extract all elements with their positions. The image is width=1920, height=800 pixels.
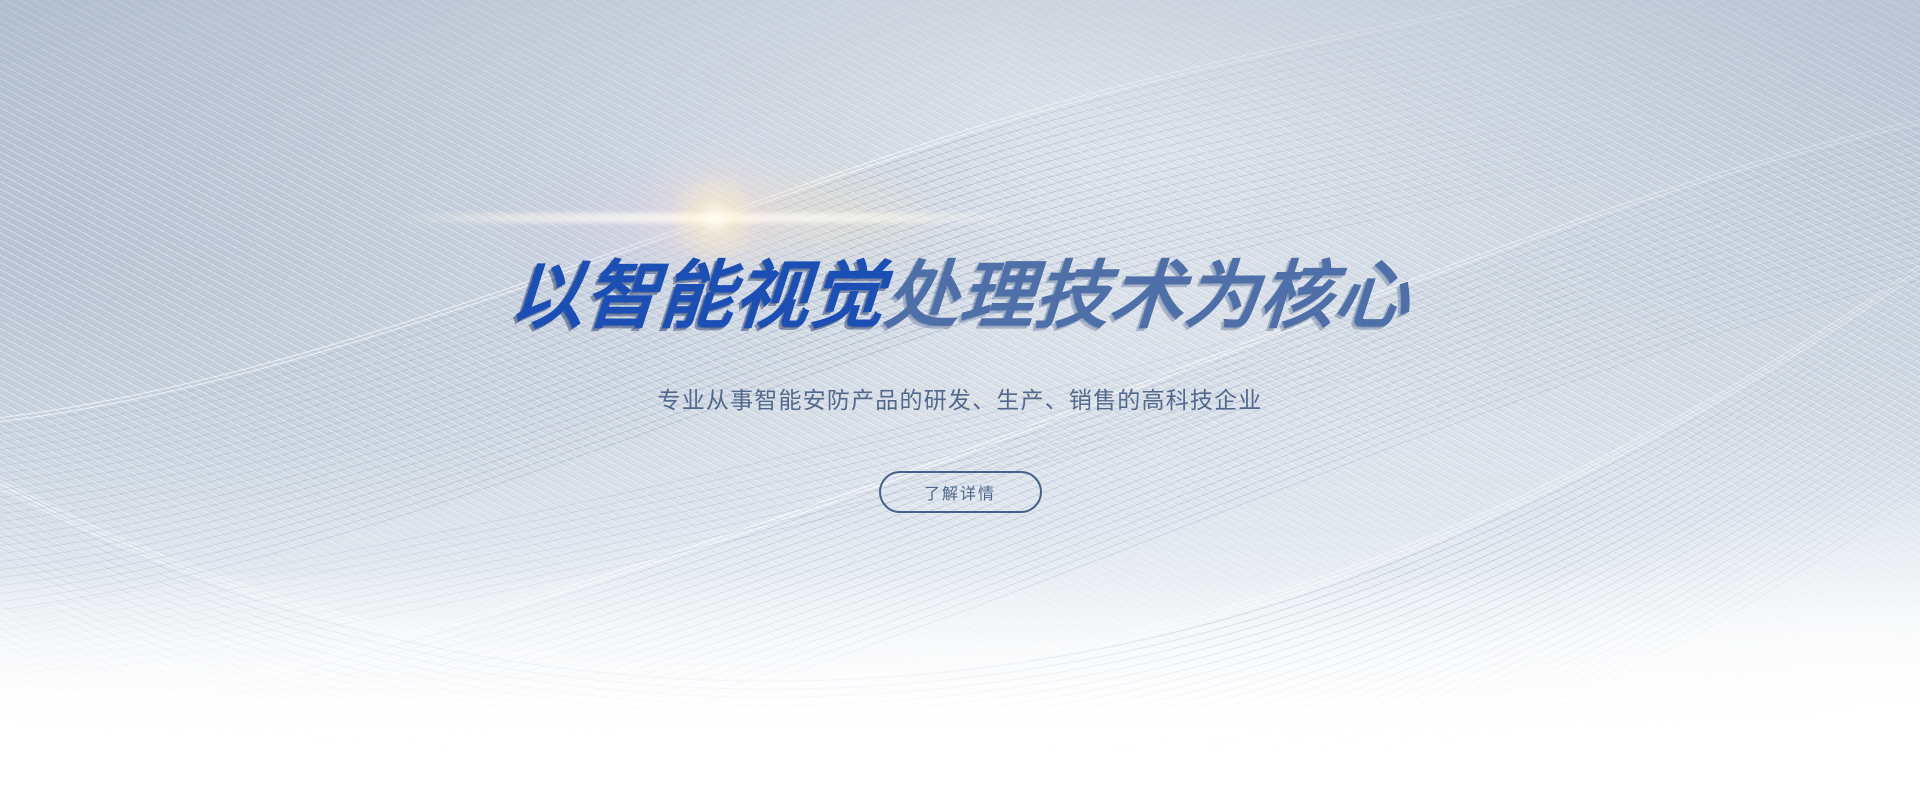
background-fade-bottom-right: [1160, 370, 1920, 800]
hero-banner: 以智能视觉处理技术为核心 专业从事智能安防产品的研发、生产、销售的高科技企业 了…: [0, 0, 1920, 800]
headline-secondary-text: 处理技术为核心: [882, 253, 1413, 339]
learn-more-button[interactable]: 了解详情: [879, 471, 1042, 513]
headline-primary-text: 以智能视觉: [507, 253, 888, 339]
hero-subtitle: 专业从事智能安防产品的研发、生产、销售的高科技企业: [658, 381, 1263, 415]
page-title: 以智能视觉处理技术为核心: [507, 259, 1412, 333]
